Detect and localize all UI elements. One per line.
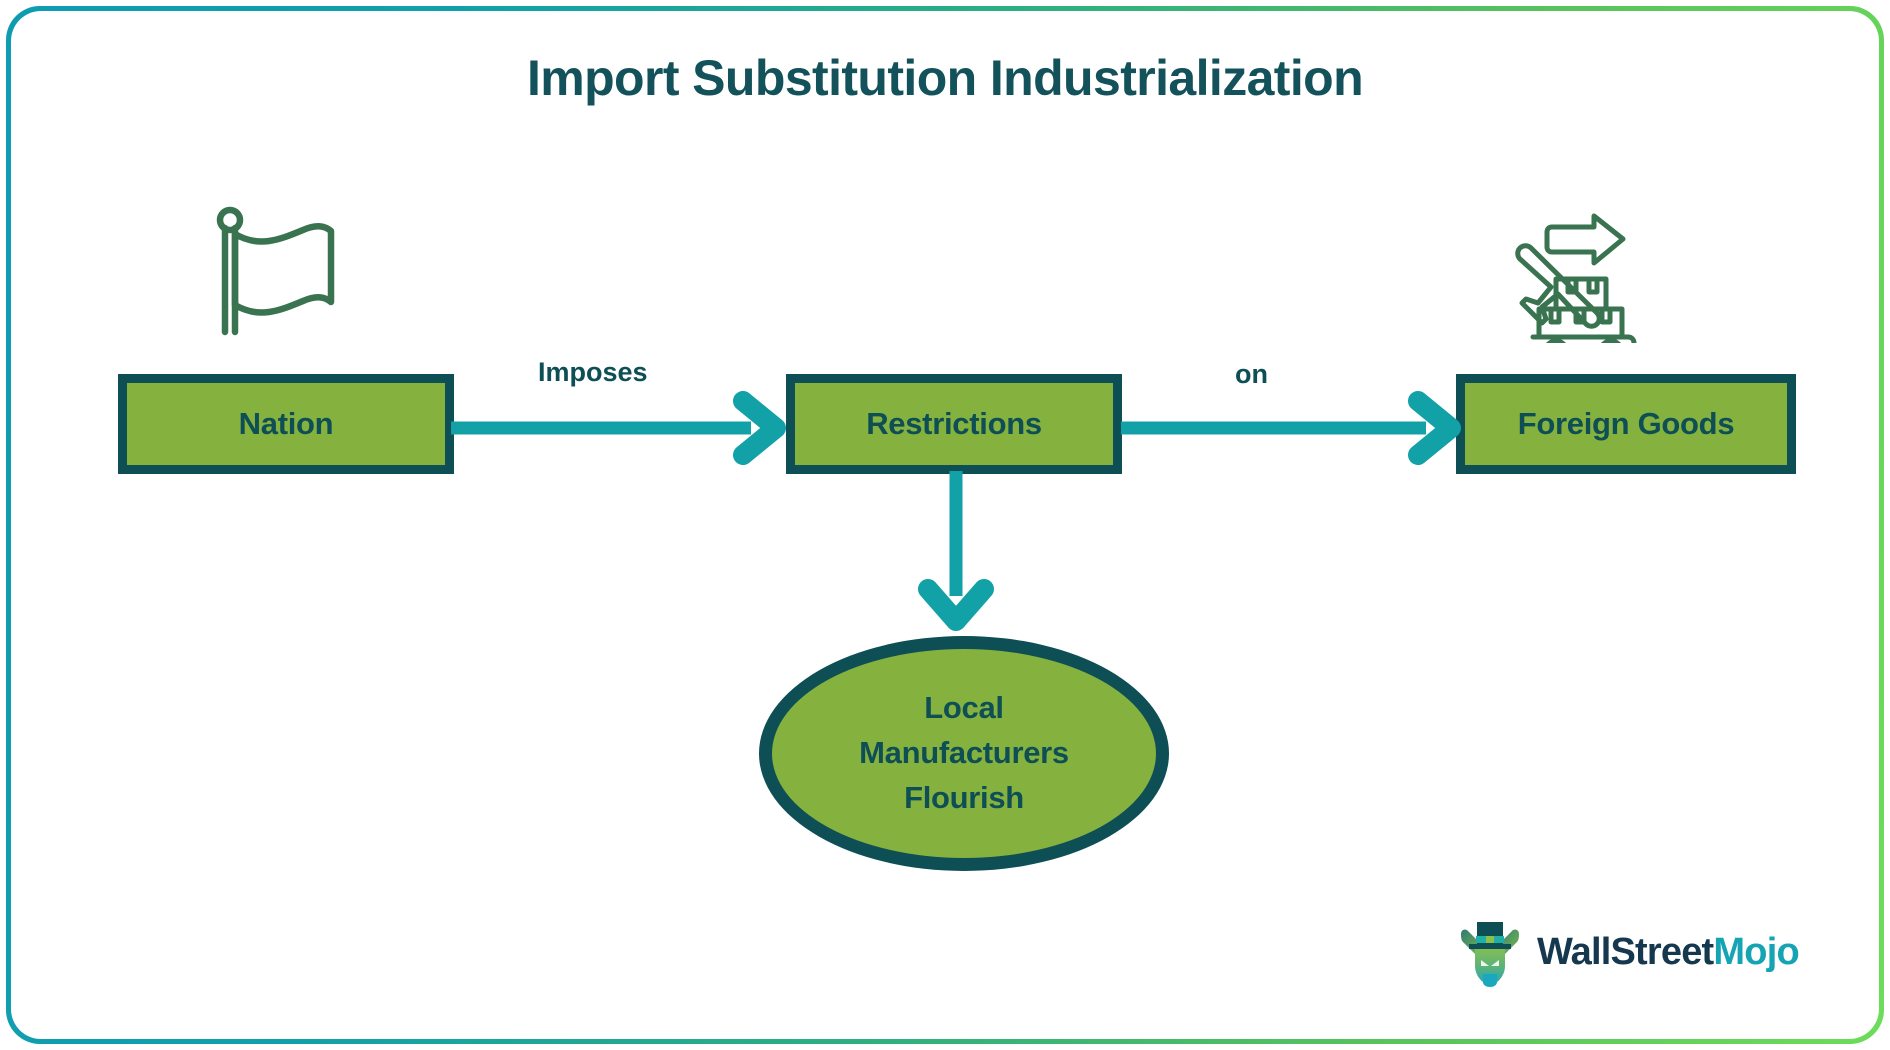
node-restrictions-label: Restrictions xyxy=(866,406,1042,442)
wallstreetmojo-logo[interactable]: WallStreetMojo xyxy=(1459,916,1799,988)
arrow-nation-to-restrictions xyxy=(451,393,791,463)
export-cargo-icon xyxy=(1506,203,1646,348)
logo-wordmark: WallStreetMojo xyxy=(1537,931,1799,974)
node-foreign-goods-fill: Foreign Goods xyxy=(1465,383,1787,465)
bull-mascot-icon xyxy=(1459,916,1521,988)
logo-text-mojo: Mojo xyxy=(1713,931,1798,973)
node-local-line-3: Flourish xyxy=(904,776,1024,821)
diagram-canvas: Import Substitution Industrialization xyxy=(11,11,1879,1039)
logo-text-wallstreet: WallStreet xyxy=(1537,931,1713,973)
node-local-line-2: Manufacturers xyxy=(859,731,1069,776)
arrow-restrictions-to-foreign-goods xyxy=(1121,393,1466,463)
decorative-gradient-frame: Import Substitution Industrialization xyxy=(6,6,1884,1044)
node-foreign-goods[interactable]: Foreign Goods xyxy=(1456,374,1796,474)
node-nation-label: Nation xyxy=(239,406,334,442)
edge-label-on: on xyxy=(1235,359,1268,390)
node-restrictions[interactable]: Restrictions xyxy=(786,374,1122,474)
edge-label-imposes: Imposes xyxy=(538,357,648,388)
node-foreign-goods-label: Foreign Goods xyxy=(1518,406,1735,442)
arrow-restrictions-to-local xyxy=(911,471,1001,631)
node-local-manufacturers[interactable]: Local Manufacturers Flourish xyxy=(759,636,1169,871)
node-restrictions-fill: Restrictions xyxy=(795,383,1113,465)
flag-icon xyxy=(211,206,341,341)
node-nation-fill: Nation xyxy=(127,383,445,465)
page-title: Import Substitution Industrialization xyxy=(11,49,1879,107)
node-nation[interactable]: Nation xyxy=(118,374,454,474)
node-local-line-1: Local xyxy=(924,686,1003,731)
